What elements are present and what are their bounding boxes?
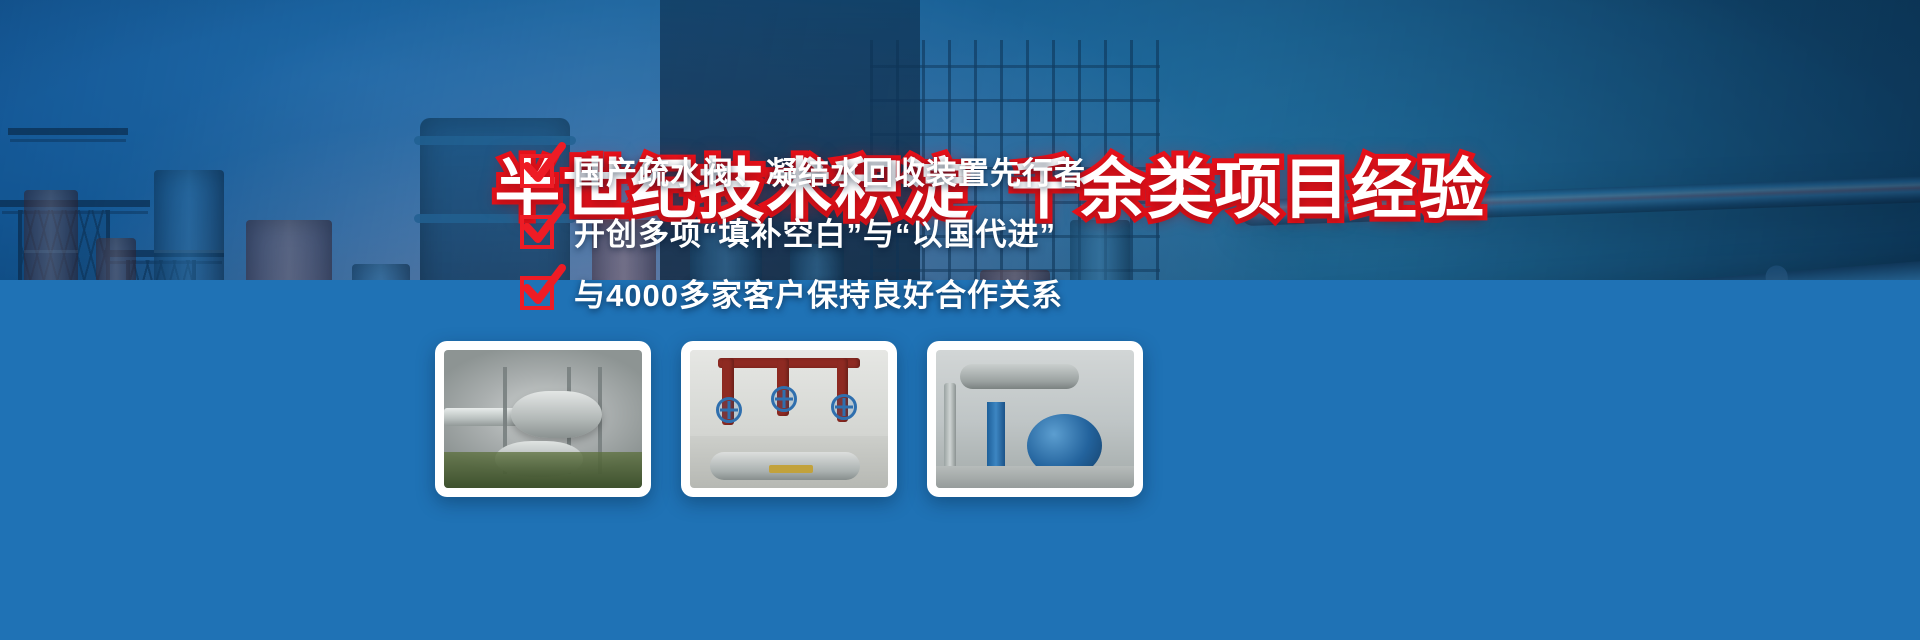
promo-banner: 半世纪技术积淀 千余类项目经验 国产疏水阀、凝结水回收装置先行者 开创多项“填补… [0,0,1920,640]
photo-separator-vessel-image [444,350,642,488]
feature-bullet-item: 国产疏水阀、凝结水回收装置先行者 [520,148,1086,193]
feature-bullet-label: 与4000多家客户保持良好合作关系 [574,270,1063,315]
checkbox-checked-icon [520,215,554,249]
photo-card-separator-vessel[interactable] [435,341,651,497]
feature-bullet-label: 国产疏水阀、凝结水回收装置先行者 [574,148,1086,193]
feature-bullet-label: 开创多项“填补空白”与“以国代进” [574,209,1056,254]
project-photo-cards [435,341,1143,497]
feature-bullet-item: 开创多项“填补空白”与“以国代进” [520,209,1086,254]
photo-blue-tank-skid-image [936,350,1134,488]
checkbox-checked-icon [520,276,554,310]
photo-card-blue-tank-skid[interactable] [927,341,1143,497]
photo-red-pipe-valves-image [690,350,888,488]
photo-card-red-pipe-valves[interactable] [681,341,897,497]
feature-bullet-item: 与4000多家客户保持良好合作关系 [520,270,1086,315]
feature-bullet-list: 国产疏水阀、凝结水回收装置先行者 开创多项“填补空白”与“以国代进” 与4000… [520,148,1086,315]
checkbox-checked-icon [520,154,554,188]
